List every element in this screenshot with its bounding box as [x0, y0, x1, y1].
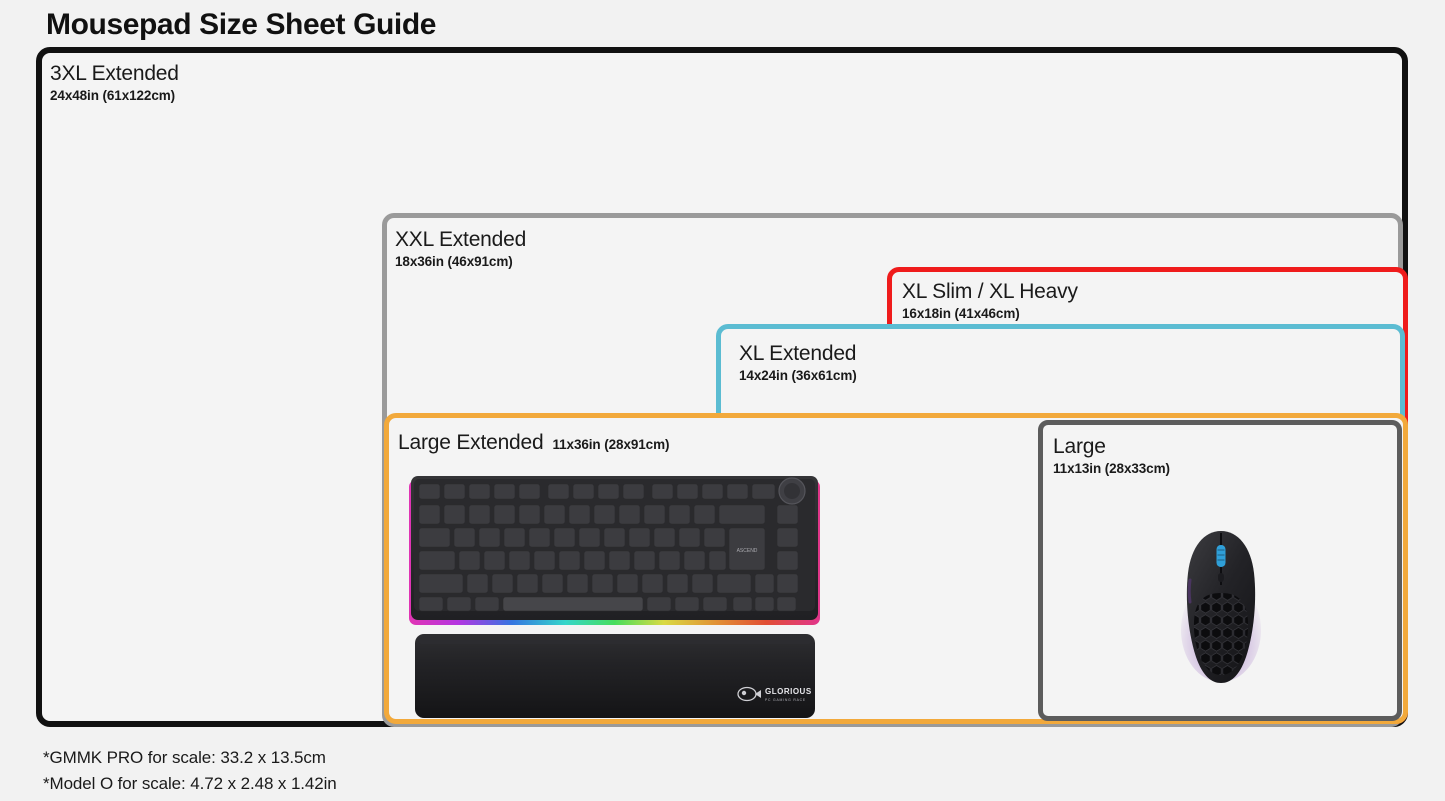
mouse-image: [1178, 525, 1264, 689]
size-label-3xl-extended: 3XL Extended 24x48in (61x122cm): [50, 63, 179, 104]
glorious-logo-text: GLORIOUS: [765, 687, 812, 696]
glorious-logo-subtext: PC GAMING RACE: [765, 698, 806, 702]
size-label-large-extended: Large Extended11x36in (28x91cm): [398, 432, 669, 454]
size-name: 3XL Extended: [50, 63, 179, 85]
size-dimensions: 18x36in (46x91cm): [395, 254, 526, 270]
size-dimensions: 11x36in (28x91cm): [552, 437, 669, 453]
footnotes: *GMMK PRO for scale: 33.2 x 13.5cm *Mode…: [43, 745, 337, 796]
enter-key-legend: ASCEND: [737, 548, 758, 554]
footnote-keyboard-scale: *GMMK PRO for scale: 33.2 x 13.5cm: [43, 745, 337, 771]
scroll-wheel: [1217, 545, 1226, 567]
size-label-xl-extended: XL Extended 14x24in (36x61cm): [739, 343, 857, 384]
size-label-xxl-extended: XXL Extended 18x36in (46x91cm): [395, 229, 526, 270]
page-title: Mousepad Size Sheet Guide: [46, 8, 436, 42]
size-dimensions: 14x24in (36x61cm): [739, 368, 857, 384]
size-label-large: Large 11x13in (28x33cm): [1053, 436, 1170, 477]
size-name: XL Extended: [739, 343, 857, 365]
size-dimensions: 16x18in (41x46cm): [902, 306, 1078, 322]
size-name: XXL Extended: [395, 229, 526, 251]
wrist-rest: [415, 634, 815, 718]
size-name: Large Extended: [398, 432, 543, 454]
size-dimensions: 24x48in (61x122cm): [50, 88, 179, 104]
size-dimensions: 11x13in (28x33cm): [1053, 461, 1170, 477]
size-label-xl-slim-xl-heavy: XL Slim / XL Heavy 16x18in (41x46cm): [902, 281, 1078, 322]
footnote-mouse-scale: *Model O for scale: 4.72 x 2.48 x 1.42in: [43, 771, 337, 797]
keyboard-image: ASCEND GLORIOUS PC GAMING RACE: [405, 468, 824, 724]
size-guide-canvas: Mousepad Size Sheet Guide 3XL Extended 2…: [0, 0, 1445, 801]
size-name: XL Slim / XL Heavy: [902, 281, 1078, 303]
size-name: Large: [1053, 436, 1170, 458]
